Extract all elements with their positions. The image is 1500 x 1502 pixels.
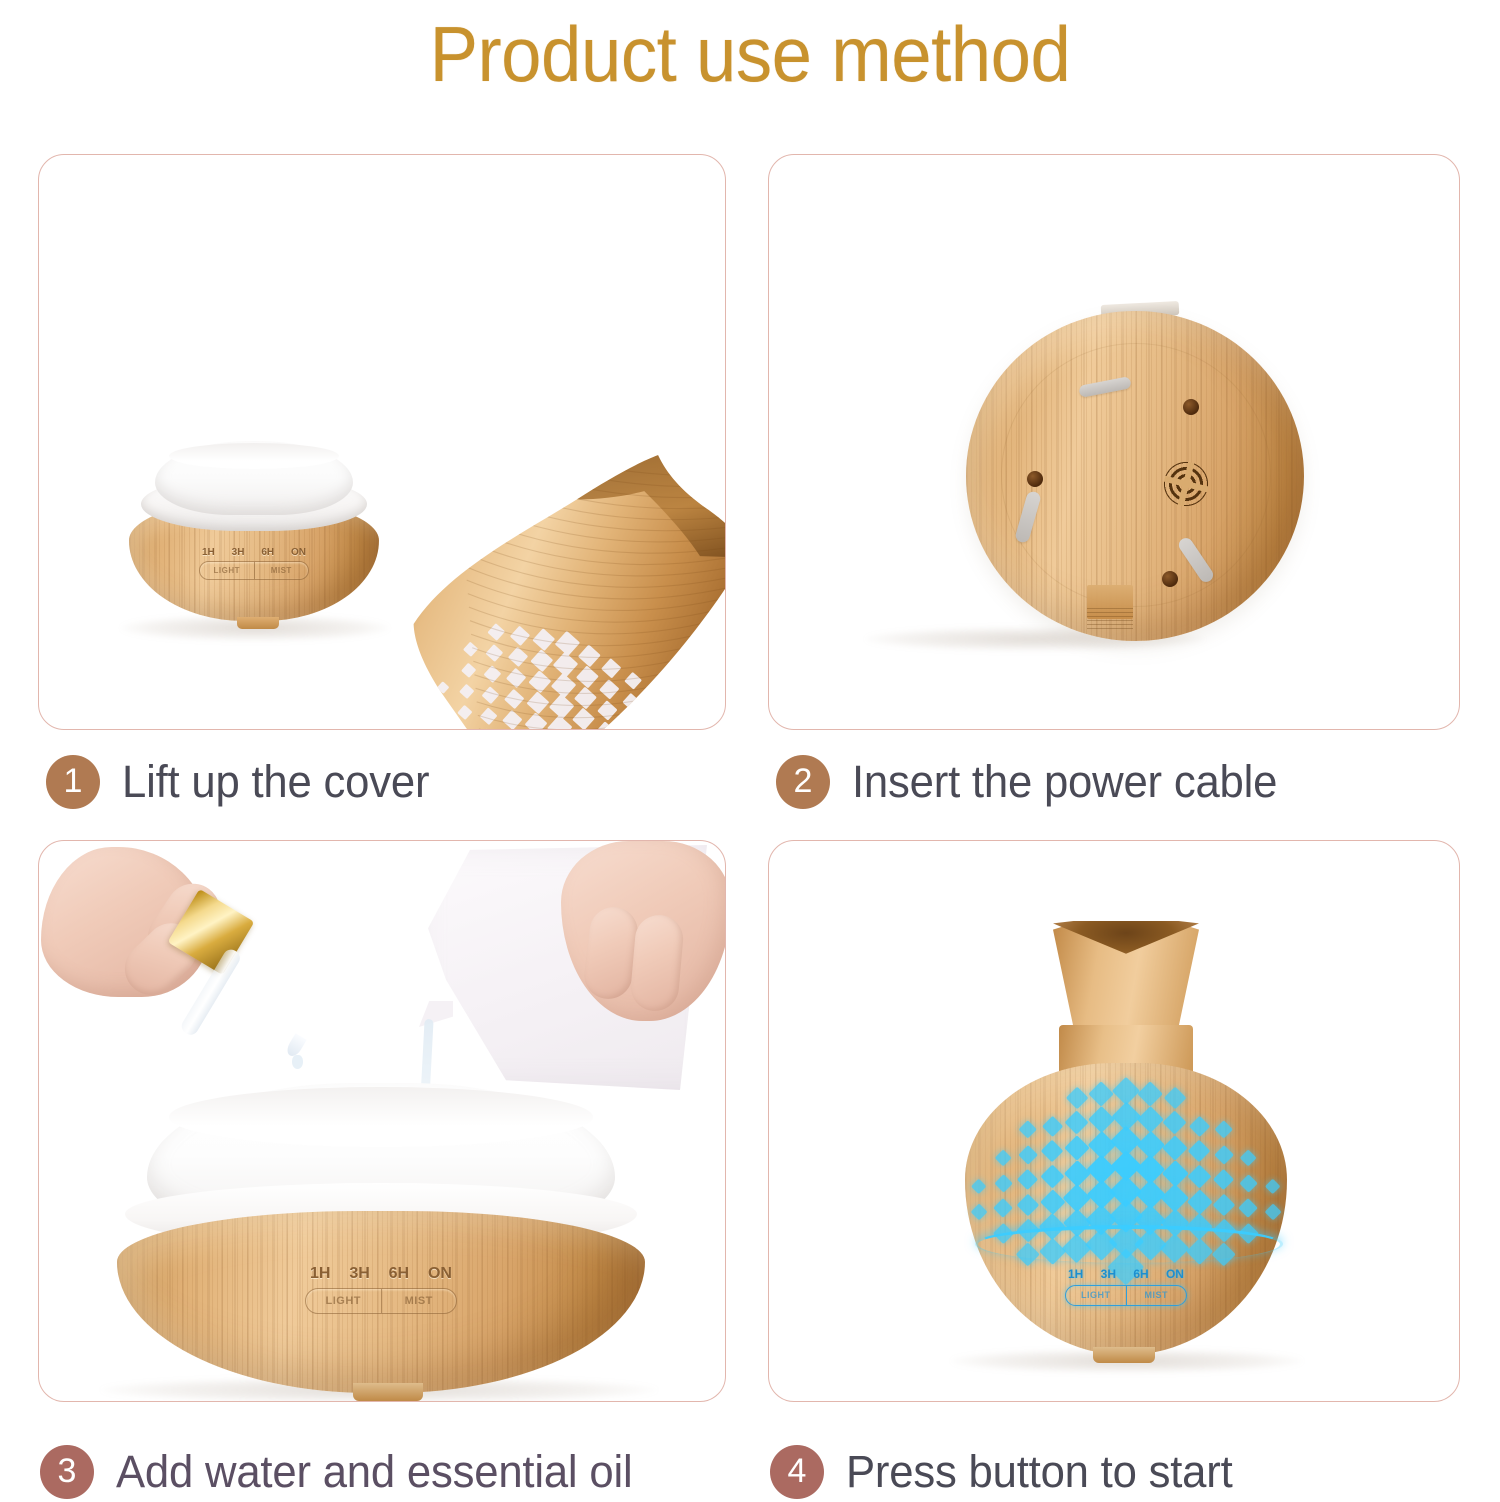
base-foot — [353, 1383, 423, 1401]
lattice-hole — [644, 728, 659, 730]
control-panel[interactable]: 1H 3H 6H ON LIGHT MIST — [305, 1265, 457, 1314]
bowl-rim — [169, 443, 339, 469]
timer-mark-3h: 3H — [232, 547, 245, 558]
timer-mark-on: ON — [291, 547, 306, 558]
timer-mark-6h: 6H — [389, 1265, 409, 1283]
light-button[interactable]: LIGHT — [1066, 1286, 1126, 1305]
vase-body — [965, 1063, 1287, 1355]
step-3-image-panel: 1H 3H 6H ON LIGHT MIST — [38, 840, 726, 1402]
step-3-label: Add water and essential oil — [116, 1446, 632, 1498]
timer-mark-on: ON — [1166, 1267, 1184, 1281]
button-row: LIGHT MIST — [305, 1288, 457, 1314]
step-1-caption: 1 Lift up the cover — [46, 752, 439, 812]
timer-mark-1h: 1H — [1068, 1267, 1083, 1281]
screw-icon — [1027, 471, 1043, 487]
screw-icon — [1183, 399, 1199, 415]
step-4-badge: 4 — [770, 1445, 824, 1499]
diffuser-lit: 1H 3H 6H ON LIGHT MIST — [961, 895, 1291, 1373]
page-title: Product use method — [53, 14, 1448, 96]
base-foot — [1093, 1347, 1155, 1363]
timer-marks: 1H 3H 6H ON — [1065, 1267, 1187, 1281]
mist-button[interactable]: MIST — [381, 1289, 457, 1313]
fan-vent-icon — [1154, 453, 1218, 515]
timer-marks: 1H 3H 6H ON — [305, 1265, 457, 1283]
screw-icon — [1162, 571, 1178, 587]
step-2-image-panel — [768, 154, 1460, 730]
mist-button[interactable]: MIST — [254, 562, 309, 579]
step-2-label: Insert the power cable — [852, 756, 1277, 808]
timer-mark-6h: 6H — [261, 547, 274, 558]
step-4-caption: 4 Press button to start — [770, 1442, 1245, 1502]
diffuser-cover — [347, 392, 726, 730]
bowl-rim — [169, 1087, 593, 1147]
light-button[interactable]: LIGHT — [200, 562, 254, 579]
timer-mark-6h: 6H — [1133, 1267, 1148, 1281]
label-text-lines — [1087, 607, 1133, 629]
timer-marks: 1H 3H 6H ON — [199, 547, 309, 558]
timer-mark-on: ON — [428, 1265, 452, 1283]
button-row: LIGHT MIST — [199, 561, 309, 580]
step-3-caption: 3 Add water and essential oil — [40, 1442, 648, 1502]
oil-droplet — [292, 1055, 303, 1069]
base-foot — [237, 617, 279, 629]
light-button[interactable]: LIGHT — [306, 1289, 381, 1313]
led-light-ring — [975, 1225, 1283, 1263]
timer-mark-3h: 3H — [349, 1265, 369, 1283]
control-panel[interactable]: 1H 3H 6H ON LIGHT MIST — [199, 547, 309, 580]
diffuser-bowl: 1H 3H 6H ON LIGHT MIST — [117, 1083, 645, 1401]
cover-shape-svg — [347, 392, 726, 730]
step-1-image-panel: 1H 3H 6H ON LIGHT MIST — [38, 154, 726, 730]
step-2-badge: 2 — [776, 755, 830, 809]
step-1-label: Lift up the cover — [122, 756, 429, 808]
step-4-image-panel: 1H 3H 6H ON LIGHT MIST — [768, 840, 1460, 1402]
step-4-label: Press button to start — [846, 1446, 1233, 1498]
lattice-hole — [645, 707, 660, 722]
control-panel[interactable]: 1H 3H 6H ON LIGHT MIST — [1065, 1267, 1187, 1306]
mist-button[interactable]: MIST — [1126, 1286, 1187, 1305]
step-3-badge: 3 — [40, 1445, 94, 1499]
step-1-badge: 1 — [46, 755, 100, 809]
timer-mark-3h: 3H — [1101, 1267, 1116, 1281]
timer-mark-1h: 1H — [202, 547, 215, 558]
step-2-caption: 2 Insert the power cable — [776, 752, 1290, 812]
diffuser-base: 1H 3H 6H ON LIGHT MIST — [129, 441, 379, 631]
timer-mark-1h: 1H — [310, 1265, 330, 1283]
wood-grain-line — [450, 408, 726, 500]
button-row: LIGHT MIST — [1065, 1285, 1187, 1306]
lattice-hole — [620, 714, 638, 730]
